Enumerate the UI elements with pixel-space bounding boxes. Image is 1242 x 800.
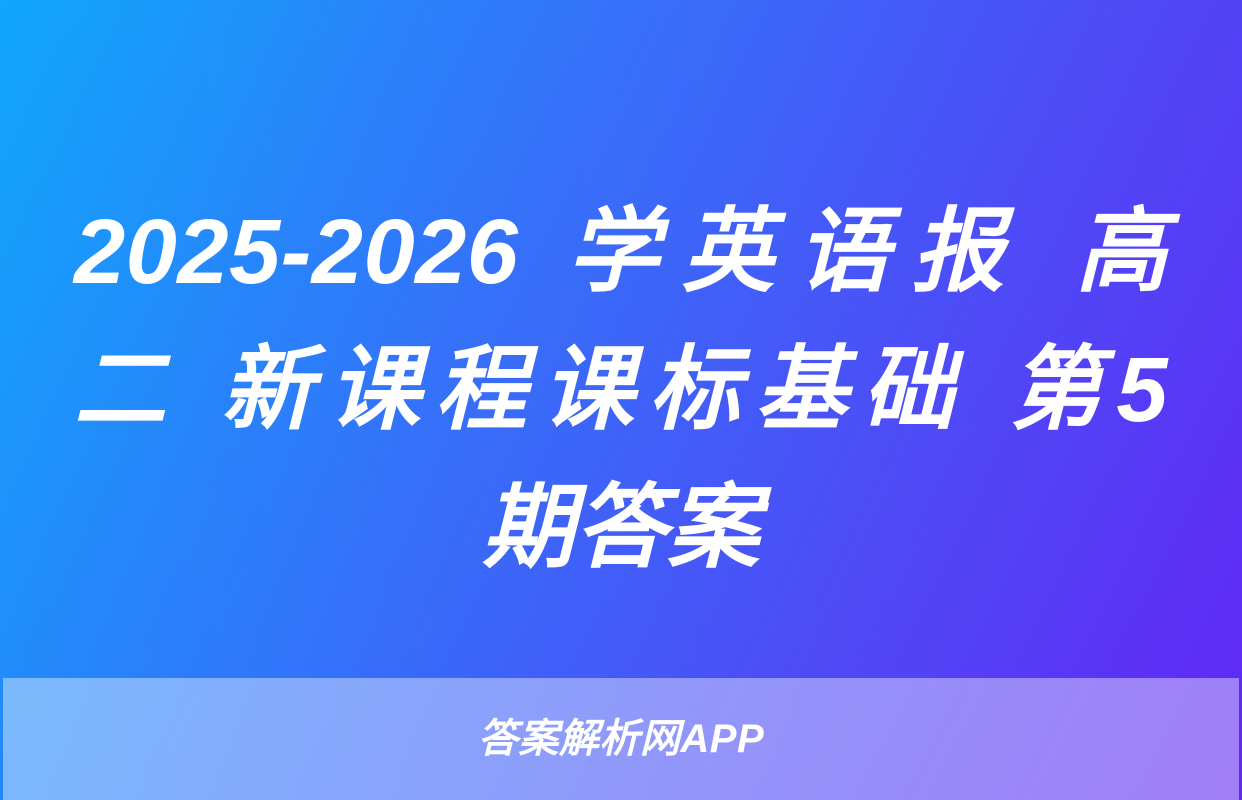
page-title-line-3: 期答案 bbox=[74, 459, 1168, 597]
footer-brand-band: 答案解析网APP bbox=[3, 678, 1239, 800]
page-title-line-1: 2025-2026 学英语报 高 bbox=[74, 183, 1168, 321]
app-brand-label: 答案解析网APP bbox=[478, 717, 764, 761]
title-card: 2025-2026 学英语报 高 二 新课程课标基础 第5 期答案 答案解析网A… bbox=[0, 0, 1242, 800]
page-title-line-2: 二 新课程课标基础 第5 bbox=[74, 321, 1168, 459]
page-title: 2025-2026 学英语报 高 二 新课程课标基础 第5 期答案 bbox=[74, 183, 1168, 597]
